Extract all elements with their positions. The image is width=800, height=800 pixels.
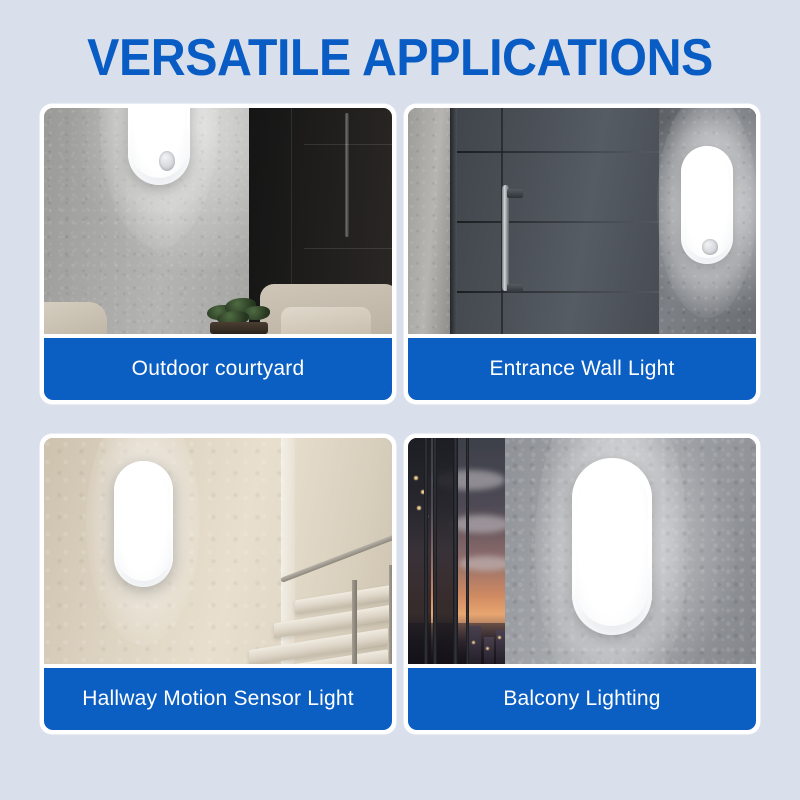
photo-outdoor-courtyard <box>44 108 392 334</box>
caption-balcony-lighting: Balcony Lighting <box>408 668 756 730</box>
oval-wall-lamp <box>114 461 173 588</box>
photo-entrance-wall-light <box>408 108 756 334</box>
window-mullion <box>453 438 458 664</box>
handrail-post <box>352 580 357 664</box>
door-groove <box>304 144 392 145</box>
photo-balcony-lighting <box>408 438 756 664</box>
city-building <box>468 626 481 664</box>
lamp-body <box>572 458 652 634</box>
caption-outdoor-courtyard: Outdoor courtyard <box>44 338 392 400</box>
application-card-balcony-lighting[interactable]: Balcony Lighting <box>404 434 760 734</box>
chair-cushion <box>281 307 371 334</box>
lamp-body <box>114 461 173 588</box>
handle-mount <box>507 284 523 293</box>
city-building <box>496 630 506 664</box>
city-light <box>498 636 501 639</box>
plant-pot <box>210 322 268 334</box>
handrail-post <box>389 565 392 664</box>
lamp-lens <box>576 467 648 626</box>
handle-mount <box>507 189 523 198</box>
door-pull-handle-icon <box>502 185 509 291</box>
application-card-entrance-wall-light[interactable]: Entrance Wall Light <box>404 104 760 404</box>
motion-sensor-icon <box>702 239 718 254</box>
door-jamb <box>408 108 450 334</box>
application-card-hallway-motion-sensor-light[interactable]: Hallway Motion Sensor Light <box>40 434 396 734</box>
door-groove <box>457 221 659 223</box>
door-groove <box>304 248 392 249</box>
city-building <box>484 637 494 664</box>
window-mullion <box>466 438 468 664</box>
oval-wall-lamp <box>128 108 191 185</box>
caption-entrance-wall-light: Entrance Wall Light <box>408 338 756 400</box>
lamp-lens <box>131 108 187 178</box>
window-mullion <box>424 438 428 664</box>
motion-sensor-icon <box>159 151 175 171</box>
infographic-page: VERSATILE APPLICATIONS <box>0 0 800 800</box>
door-groove <box>457 291 659 293</box>
balcony-window <box>408 438 505 664</box>
photo-hallway-motion-sensor-light <box>44 438 392 664</box>
door-gap <box>450 108 457 334</box>
glass-reflection <box>437 438 453 664</box>
application-card-outdoor-courtyard[interactable]: Outdoor courtyard <box>40 104 396 404</box>
lamp-body <box>128 108 191 185</box>
window-mullion <box>433 438 437 664</box>
entrance-door <box>457 108 659 334</box>
caption-hallway-motion-sensor-light: Hallway Motion Sensor Light <box>44 668 392 730</box>
reflected-light <box>417 506 421 510</box>
application-grid: Outdoor courtyard <box>40 104 760 764</box>
oval-wall-lamp <box>681 146 733 264</box>
potted-plant <box>204 289 274 334</box>
cloud <box>451 515 506 533</box>
door-handle-icon <box>345 113 349 237</box>
lamp-lens <box>117 467 170 581</box>
lounge-chair-left <box>44 302 107 334</box>
page-title: VERSATILE APPLICATIONS <box>28 30 772 86</box>
oval-wall-lamp <box>572 458 652 634</box>
door-groove <box>457 151 659 153</box>
